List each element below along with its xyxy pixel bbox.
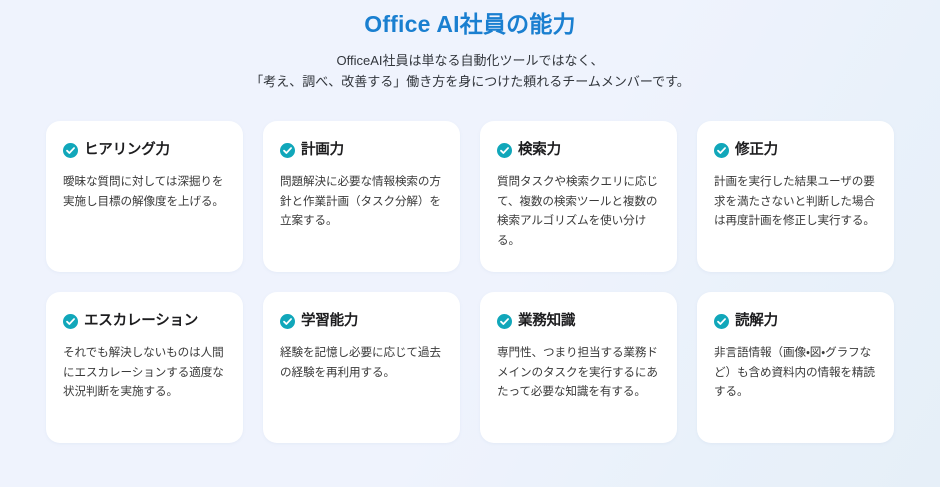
check-circle-icon bbox=[497, 314, 512, 329]
card-body: それでも解決しないものは人間にエスカレーションする適度な状況判断を実施する。 bbox=[63, 343, 226, 402]
card-title: 検索力 bbox=[518, 141, 561, 159]
capability-card[interactable]: 読解力 非言語情報（画像・図・グラフなど）も含め資料内の情報を精読する。 bbox=[697, 292, 894, 443]
page-subtitle: OfficeAI社員は単なる自動化ツールではなく、 「考え、調べ、改善する」働き… bbox=[0, 50, 940, 92]
card-body: 非言語情報（画像・図・グラフなど）も含め資料内の情報を精読する。 bbox=[714, 343, 877, 402]
check-circle-icon bbox=[63, 314, 78, 329]
capability-card[interactable]: 計画力 問題解決に必要な情報検索の方針と作業計画（タスク分解）を立案する。 bbox=[263, 121, 460, 272]
capability-card[interactable]: 業務知識 専門性、つまり担当する業務ドメインのタスクを実行するにあたって必要な知… bbox=[480, 292, 677, 443]
capability-card[interactable]: 修正力 計画を実行した結果ユーザの要求を満たさないと判断した場合は再度計画を修正… bbox=[697, 121, 894, 272]
card-title: エスカレーション bbox=[84, 312, 198, 330]
card-header: エスカレーション bbox=[63, 312, 226, 330]
check-circle-icon bbox=[497, 143, 512, 158]
card-header: ヒアリング力 bbox=[63, 141, 226, 159]
card-title: 学習能力 bbox=[301, 312, 358, 330]
capability-card[interactable]: ヒアリング力 曖昧な質問に対しては深掘りを実施し目標の解像度を上げる。 bbox=[46, 121, 243, 272]
card-title: 業務知識 bbox=[518, 312, 575, 330]
card-body: 曖昧な質問に対しては深掘りを実施し目標の解像度を上げる。 bbox=[63, 172, 226, 211]
card-body: 問題解決に必要な情報検索の方針と作業計画（タスク分解）を立案する。 bbox=[280, 172, 443, 231]
slide-root: Office AI社員の能力 OfficeAI社員は単なる自動化ツールではなく、… bbox=[0, 0, 940, 487]
card-title: ヒアリング力 bbox=[84, 141, 170, 159]
page-title: Office AI社員の能力 bbox=[0, 9, 940, 39]
capability-card[interactable]: 検索力 質問タスクや検索クエリに応じて、複数の検索ツールと複数の検索アルゴリズム… bbox=[480, 121, 677, 272]
capability-card-grid: ヒアリング力 曖昧な質問に対しては深掘りを実施し目標の解像度を上げる。 計画力 … bbox=[46, 121, 894, 443]
card-header: 修正力 bbox=[714, 141, 877, 159]
card-body: 専門性、つまり担当する業務ドメインのタスクを実行するにあたって必要な知識を有する… bbox=[497, 343, 660, 402]
check-circle-icon bbox=[280, 143, 295, 158]
card-header: 学習能力 bbox=[280, 312, 443, 330]
card-body: 経験を記憶し必要に応じて過去の経験を再利用する。 bbox=[280, 343, 443, 382]
subtitle-line-2: 「考え、調べ、改善する」働き方を身につけた頼れるチームメンバーです。 bbox=[0, 71, 940, 92]
card-title: 計画力 bbox=[301, 141, 344, 159]
card-title: 読解力 bbox=[735, 312, 778, 330]
card-header: 読解力 bbox=[714, 312, 877, 330]
header: Office AI社員の能力 OfficeAI社員は単なる自動化ツールではなく、… bbox=[0, 0, 940, 92]
capability-card[interactable]: エスカレーション それでも解決しないものは人間にエスカレーションする適度な状況判… bbox=[46, 292, 243, 443]
subtitle-line-1: OfficeAI社員は単なる自動化ツールではなく、 bbox=[0, 50, 940, 71]
check-circle-icon bbox=[280, 314, 295, 329]
check-circle-icon bbox=[63, 143, 78, 158]
card-body: 質問タスクや検索クエリに応じて、複数の検索ツールと複数の検索アルゴリズムを使い分… bbox=[497, 172, 660, 250]
card-body: 計画を実行した結果ユーザの要求を満たさないと判断した場合は再度計画を修正し実行す… bbox=[714, 172, 877, 231]
card-header: 業務知識 bbox=[497, 312, 660, 330]
check-circle-icon bbox=[714, 143, 729, 158]
card-header: 検索力 bbox=[497, 141, 660, 159]
card-title: 修正力 bbox=[735, 141, 778, 159]
check-circle-icon bbox=[714, 314, 729, 329]
capability-card[interactable]: 学習能力 経験を記憶し必要に応じて過去の経験を再利用する。 bbox=[263, 292, 460, 443]
card-header: 計画力 bbox=[280, 141, 443, 159]
